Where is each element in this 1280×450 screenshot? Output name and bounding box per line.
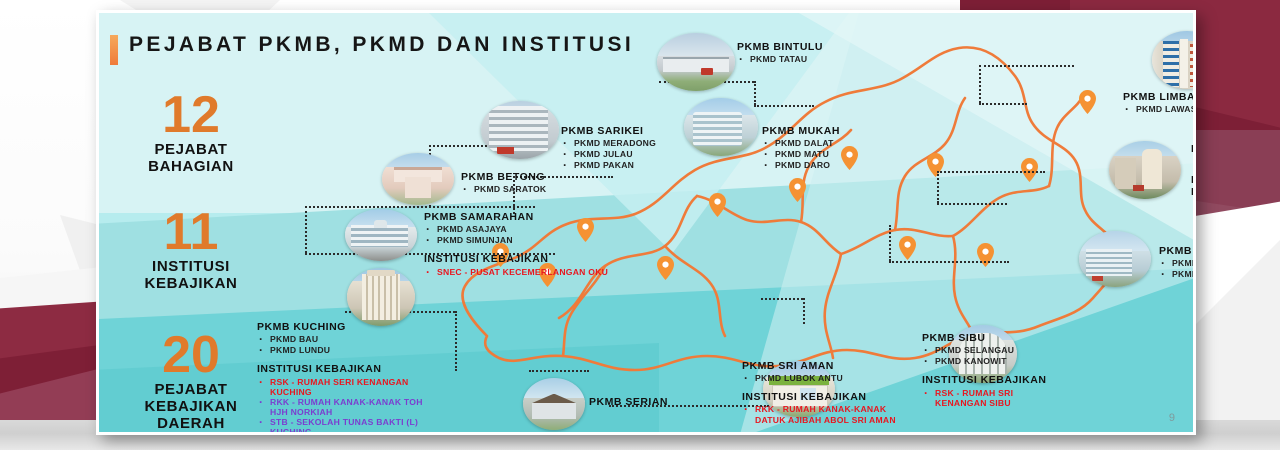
office-label-sri-aman: PKMB SRI AMAN PKMD LUBOK ANTU INSTITUSI … (742, 360, 912, 425)
map-pin-betong[interactable] (709, 193, 726, 217)
office-item: PKMD SELANGAU (922, 345, 1067, 356)
title-accent-bar (110, 35, 118, 65)
connector-sibu-h (761, 298, 803, 300)
connector-samarahan-top (305, 206, 535, 208)
office-item: PKMD KANOWIT (922, 356, 1067, 367)
stat-label-line-2: BAHAGIAN (111, 159, 271, 176)
office-heading: PKMB BINTULU (737, 41, 823, 54)
stat-pejabat-kebajikan-daerah: 20 PEJABAT KEBAJIKAN DAERAH (111, 331, 271, 433)
office-item: PKMD LUNDU (257, 345, 432, 356)
office-label-sibu: PKMB SIBU PKMD SELANGAU PKMD KANOWIT INS… (922, 332, 1067, 408)
presentation-slide: PEJABAT PKMB, PKMD DAN INSTITUSI 12 PEJA… (96, 10, 1196, 435)
photo-bintulu (657, 33, 735, 91)
stat-label-line-2: KEBAJIKAN (111, 399, 271, 416)
map-pin-sibu[interactable] (899, 236, 916, 260)
office-item: PKMD JULAU (561, 149, 656, 160)
office-heading: PKMB KUCHING (257, 321, 432, 334)
stat-label: PEJABAT BAHAGIAN (111, 142, 271, 176)
office-label-miri: PKMB MIRI PKMD MARUDI INSTITUSI KEBAJIKA… (1191, 143, 1196, 229)
office-item: PKMD ASAJAYA (424, 224, 608, 235)
connector-limbang-v (979, 65, 981, 103)
office-heading: PKMB SIBU (922, 332, 1067, 345)
photo-samarahan (345, 209, 417, 261)
photo-sarikei (481, 101, 559, 159)
connector-limbang-h (979, 65, 1074, 67)
office-item: PKMD DARO (762, 160, 840, 171)
office-item: PKMD PAKAN (561, 160, 656, 171)
stat-number: 20 (111, 331, 271, 380)
office-label-serian: PKMB SERIAN (589, 396, 668, 409)
connector-mukah-h (429, 145, 487, 147)
office-heading: PKMB MIRI (1191, 143, 1196, 156)
office-item: PKMD SIMUNJAN (424, 235, 608, 246)
office-item: PKMD LAWAS (1123, 104, 1196, 115)
photo-mukah (684, 98, 758, 156)
photo-miri (1109, 141, 1181, 199)
stat-label-line-1: PEJABAT (111, 382, 271, 399)
connector-samarahan-left (305, 206, 307, 253)
stat-label: PEJABAT KEBAJIKAN DAERAH (111, 382, 271, 432)
office-label-bintulu: PKMB BINTULU PKMD TATAU (737, 41, 823, 65)
institution-item: RKK - RUMAH KANAK-KANAK TOH HJH NORKIAH (257, 397, 432, 417)
office-item: PKMD BELAGA (1159, 269, 1196, 280)
office-item: PKMD MARUDI (1191, 156, 1196, 167)
map-pin-mukah[interactable] (841, 146, 858, 170)
connector-miri-h2 (937, 203, 1007, 205)
office-label-betong: PKMB BETONG PKMD SARATOK (461, 171, 546, 195)
stat-pejabat-bahagian: 12 PEJABAT BAHAGIAN (111, 91, 271, 176)
office-heading: PKMB LIMBANG (1123, 91, 1196, 104)
photo-kuching (347, 268, 415, 326)
stat-number: 12 (111, 91, 271, 140)
stat-label-line-2: KEBAJIKAN (111, 276, 271, 293)
slide-stage: PEJABAT PKMB, PKMD DAN INSTITUSI 12 PEJA… (0, 0, 1280, 450)
institution-item: SNEC - PUSAT KECEMERLANGAN OKU (424, 267, 608, 278)
map-pin-sri-aman[interactable] (657, 256, 674, 280)
office-label-kapit: PKMB KAPIT PKMD SONG PKMD BELAGA (1159, 245, 1196, 280)
institution-item: RKK - RUMAH KANAK-KANAK DATUK AJIBAH ABO… (742, 404, 912, 424)
institution-heading: INSTITUSI KEBAJIKAN (424, 253, 608, 266)
connector-kapit-v (889, 225, 891, 261)
connector-miri-h (937, 171, 1045, 173)
connector-sibu-v (803, 298, 805, 324)
institution-heading: INSTITUSI KEBAJIKAN (1191, 174, 1196, 198)
office-label-limbang: PKMB LIMBANG PKMD LAWAS (1123, 91, 1196, 115)
institution-heading: INSTITUSI KEBAJIKAN (922, 374, 1067, 387)
map-pin-miri[interactable] (1021, 158, 1038, 182)
institution-item: RSK - RUMAH SERI KENANGAN KUCHING (257, 377, 432, 397)
office-heading: PKMB BETONG (461, 171, 546, 184)
office-label-samarahan: PKMB SAMARAHAN PKMD ASAJAYA PKMD SIMUNJA… (424, 211, 608, 278)
photo-serian (523, 378, 585, 430)
map-pin-limbang[interactable] (1079, 90, 1096, 114)
connector-kuching-v (455, 311, 457, 371)
office-heading: PKMB SAMARAHAN (424, 211, 608, 224)
office-heading: PKMB MUKAH (762, 125, 840, 138)
stat-label: INSTITUSI KEBAJIKAN (111, 259, 271, 293)
stat-number: 11 (111, 208, 271, 257)
stat-label-line-1: INSTITUSI (111, 259, 271, 276)
stat-label-line-1: PEJABAT (111, 142, 271, 159)
map-pin-bintulu[interactable] (927, 153, 944, 177)
office-label-kuching: PKMB KUCHING PKMD BAU PKMD LUNDU INSTITU… (257, 321, 432, 435)
office-heading: PKMB SERIAN (589, 396, 668, 409)
office-item: PKMD DALAT (762, 138, 840, 149)
stat-institusi-kebajikan: 11 INSTITUSI KEBAJIKAN (111, 208, 271, 293)
office-label-mukah: PKMB MUKAH PKMD DALAT PKMD MATU PKMD DAR… (762, 125, 840, 172)
office-item: PKMD LUBOK ANTU (742, 373, 912, 384)
photo-betong (382, 153, 454, 205)
institution-item: STB - SEKOLAH TUNAS BAKTI (P) MIRI (1191, 199, 1196, 229)
office-heading: PKMB SRI AMAN (742, 360, 912, 373)
connector-kapit-h (889, 261, 1009, 263)
photo-limbang (1152, 31, 1196, 89)
institution-heading: INSTITUSI KEBAJIKAN (257, 363, 432, 376)
office-item: PKMD TATAU (737, 54, 823, 65)
office-item: PKMD BAU (257, 334, 432, 345)
office-item: PKMD MERADONG (561, 138, 656, 149)
connector-serian-h (529, 370, 589, 372)
connector-miri-v (937, 171, 939, 203)
institution-item: STB - SEKOLAH TUNAS BAKTI (L) KUCHING (257, 417, 432, 435)
office-item: PKMD SARATOK (461, 184, 546, 195)
page-number: 9 (1169, 412, 1175, 424)
connector-limbang-h2 (979, 103, 1027, 105)
map-pin-sarikei[interactable] (789, 178, 806, 202)
office-item: PKMD MATU (762, 149, 840, 160)
photo-kapit (1079, 231, 1151, 287)
map-pin-kapit[interactable] (977, 243, 994, 267)
office-heading: PKMB SARIKEI (561, 125, 656, 138)
stat-label-line-3: DAERAH (111, 416, 271, 433)
office-label-sarikei: PKMB SARIKEI PKMD MERADONG PKMD JULAU PK… (561, 125, 656, 172)
connector-bintulu-h2 (754, 105, 814, 107)
institution-heading: INSTITUSI KEBAJIKAN (742, 391, 912, 404)
institution-item: RSK - RUMAH SRI KENANGAN SIBU (922, 388, 1067, 408)
